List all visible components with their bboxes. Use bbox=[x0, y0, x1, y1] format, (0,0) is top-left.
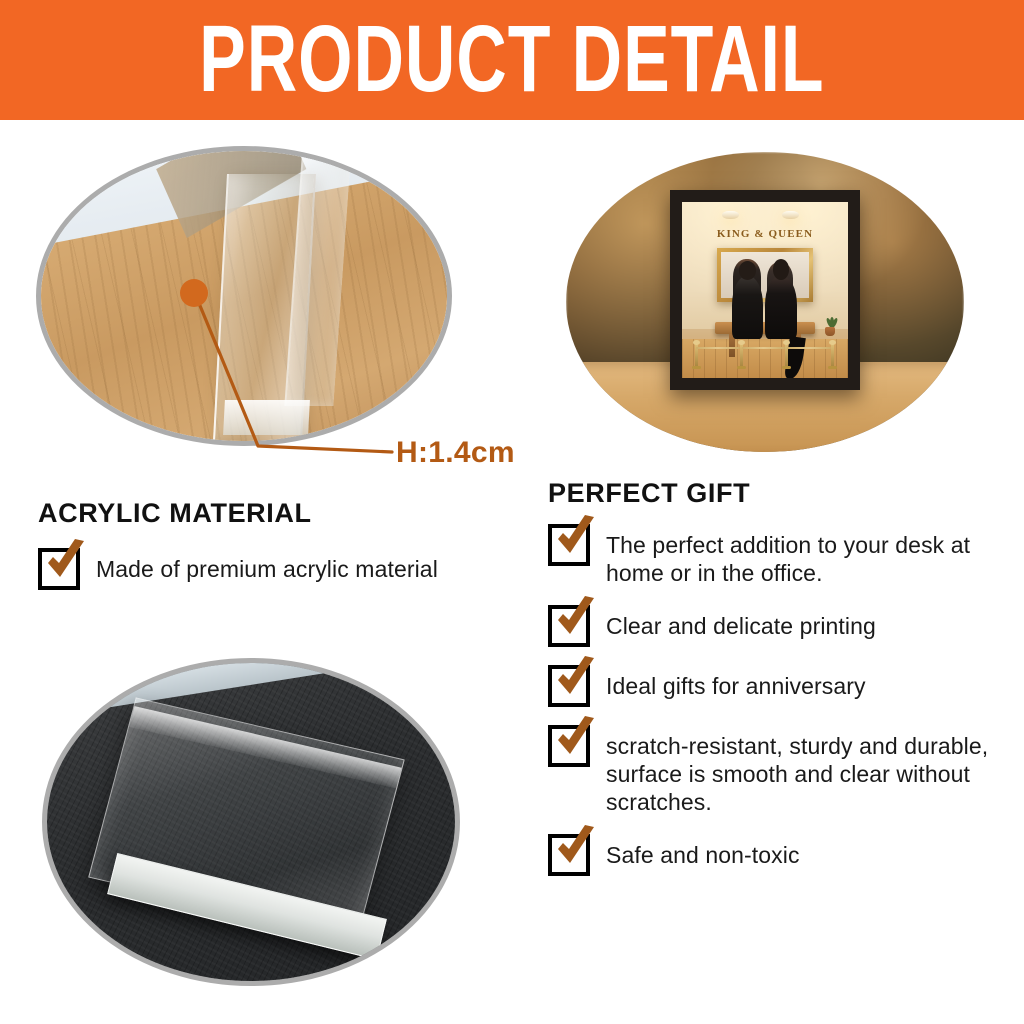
potted-plant bbox=[823, 316, 836, 336]
figure-woman bbox=[765, 276, 797, 339]
rope-segment bbox=[742, 347, 786, 349]
dimension-label: H:1.4cm bbox=[396, 436, 515, 470]
checkmark-icon bbox=[554, 716, 598, 762]
frame-title: KING & QUEEN bbox=[682, 228, 848, 240]
checkbox-checked-icon[interactable] bbox=[548, 725, 590, 767]
checkbox-checked-icon[interactable] bbox=[38, 548, 80, 590]
bullet-list-acrylic-material: Made of premium acrylic material bbox=[38, 548, 518, 590]
stanchion-rope-barrier bbox=[692, 343, 838, 368]
checkmark-icon bbox=[554, 596, 598, 642]
photo-acrylic-block bbox=[42, 658, 460, 986]
list-item: Made of premium acrylic material bbox=[38, 548, 518, 590]
shadow-box-frame: KING & QUEEN bbox=[670, 190, 860, 390]
list-item-label: Ideal gifts for anniversary bbox=[606, 665, 866, 700]
checkmark-icon bbox=[44, 539, 88, 585]
list-item-label: scratch-resistant, sturdy and durable, s… bbox=[606, 725, 1008, 816]
list-item-label: Clear and delicate printing bbox=[606, 605, 876, 640]
spotlight-right-icon bbox=[782, 211, 799, 219]
list-item: Ideal gifts for anniversary bbox=[548, 665, 1008, 707]
header-banner: PRODUCT DETAIL bbox=[0, 0, 1024, 120]
edge-scene bbox=[41, 151, 447, 441]
plant-pot bbox=[825, 327, 835, 336]
slate-backdrop bbox=[42, 658, 460, 720]
list-item: The perfect addition to your desk at hom… bbox=[548, 524, 1008, 587]
section-title-acrylic-material: ACRYLIC MATERIAL bbox=[38, 498, 312, 529]
list-item: Clear and delicate printing bbox=[548, 605, 1008, 647]
section-title-perfect-gift: PERFECT GIFT bbox=[548, 478, 750, 509]
photo-gift-frame: KING & QUEEN bbox=[566, 152, 964, 452]
photo-acrylic-edge bbox=[36, 146, 452, 446]
list-item: Safe and non-toxic bbox=[548, 834, 1008, 876]
spotlight-left-icon bbox=[722, 211, 739, 219]
list-item-label: Safe and non-toxic bbox=[606, 834, 800, 869]
list-item: scratch-resistant, sturdy and durable, s… bbox=[548, 725, 1008, 816]
checkbox-checked-icon[interactable] bbox=[548, 524, 590, 566]
slate-surface bbox=[47, 663, 455, 981]
checkbox-checked-icon[interactable] bbox=[548, 665, 590, 707]
checkmark-icon bbox=[554, 825, 598, 871]
list-item-label: The perfect addition to your desk at hom… bbox=[606, 524, 1008, 587]
rope-segment bbox=[787, 347, 831, 349]
shadow-box-interior: KING & QUEEN bbox=[682, 202, 848, 378]
rope-segment bbox=[696, 347, 740, 349]
page-title: PRODUCT DETAIL bbox=[199, 13, 824, 107]
checkbox-checked-icon[interactable] bbox=[548, 834, 590, 876]
list-item-label: Made of premium acrylic material bbox=[96, 548, 438, 583]
bullet-list-perfect-gift: The perfect addition to your desk at hom… bbox=[548, 524, 1008, 894]
checkmark-icon bbox=[554, 515, 598, 561]
checkmark-icon bbox=[554, 656, 598, 702]
stanchion-post bbox=[831, 343, 834, 368]
checkbox-checked-icon[interactable] bbox=[548, 605, 590, 647]
product-detail-infographic: PRODUCT DETAIL KING & QUEEN bbox=[0, 0, 1024, 1024]
figure-man bbox=[732, 276, 764, 339]
acrylic-edge-base bbox=[223, 400, 310, 435]
